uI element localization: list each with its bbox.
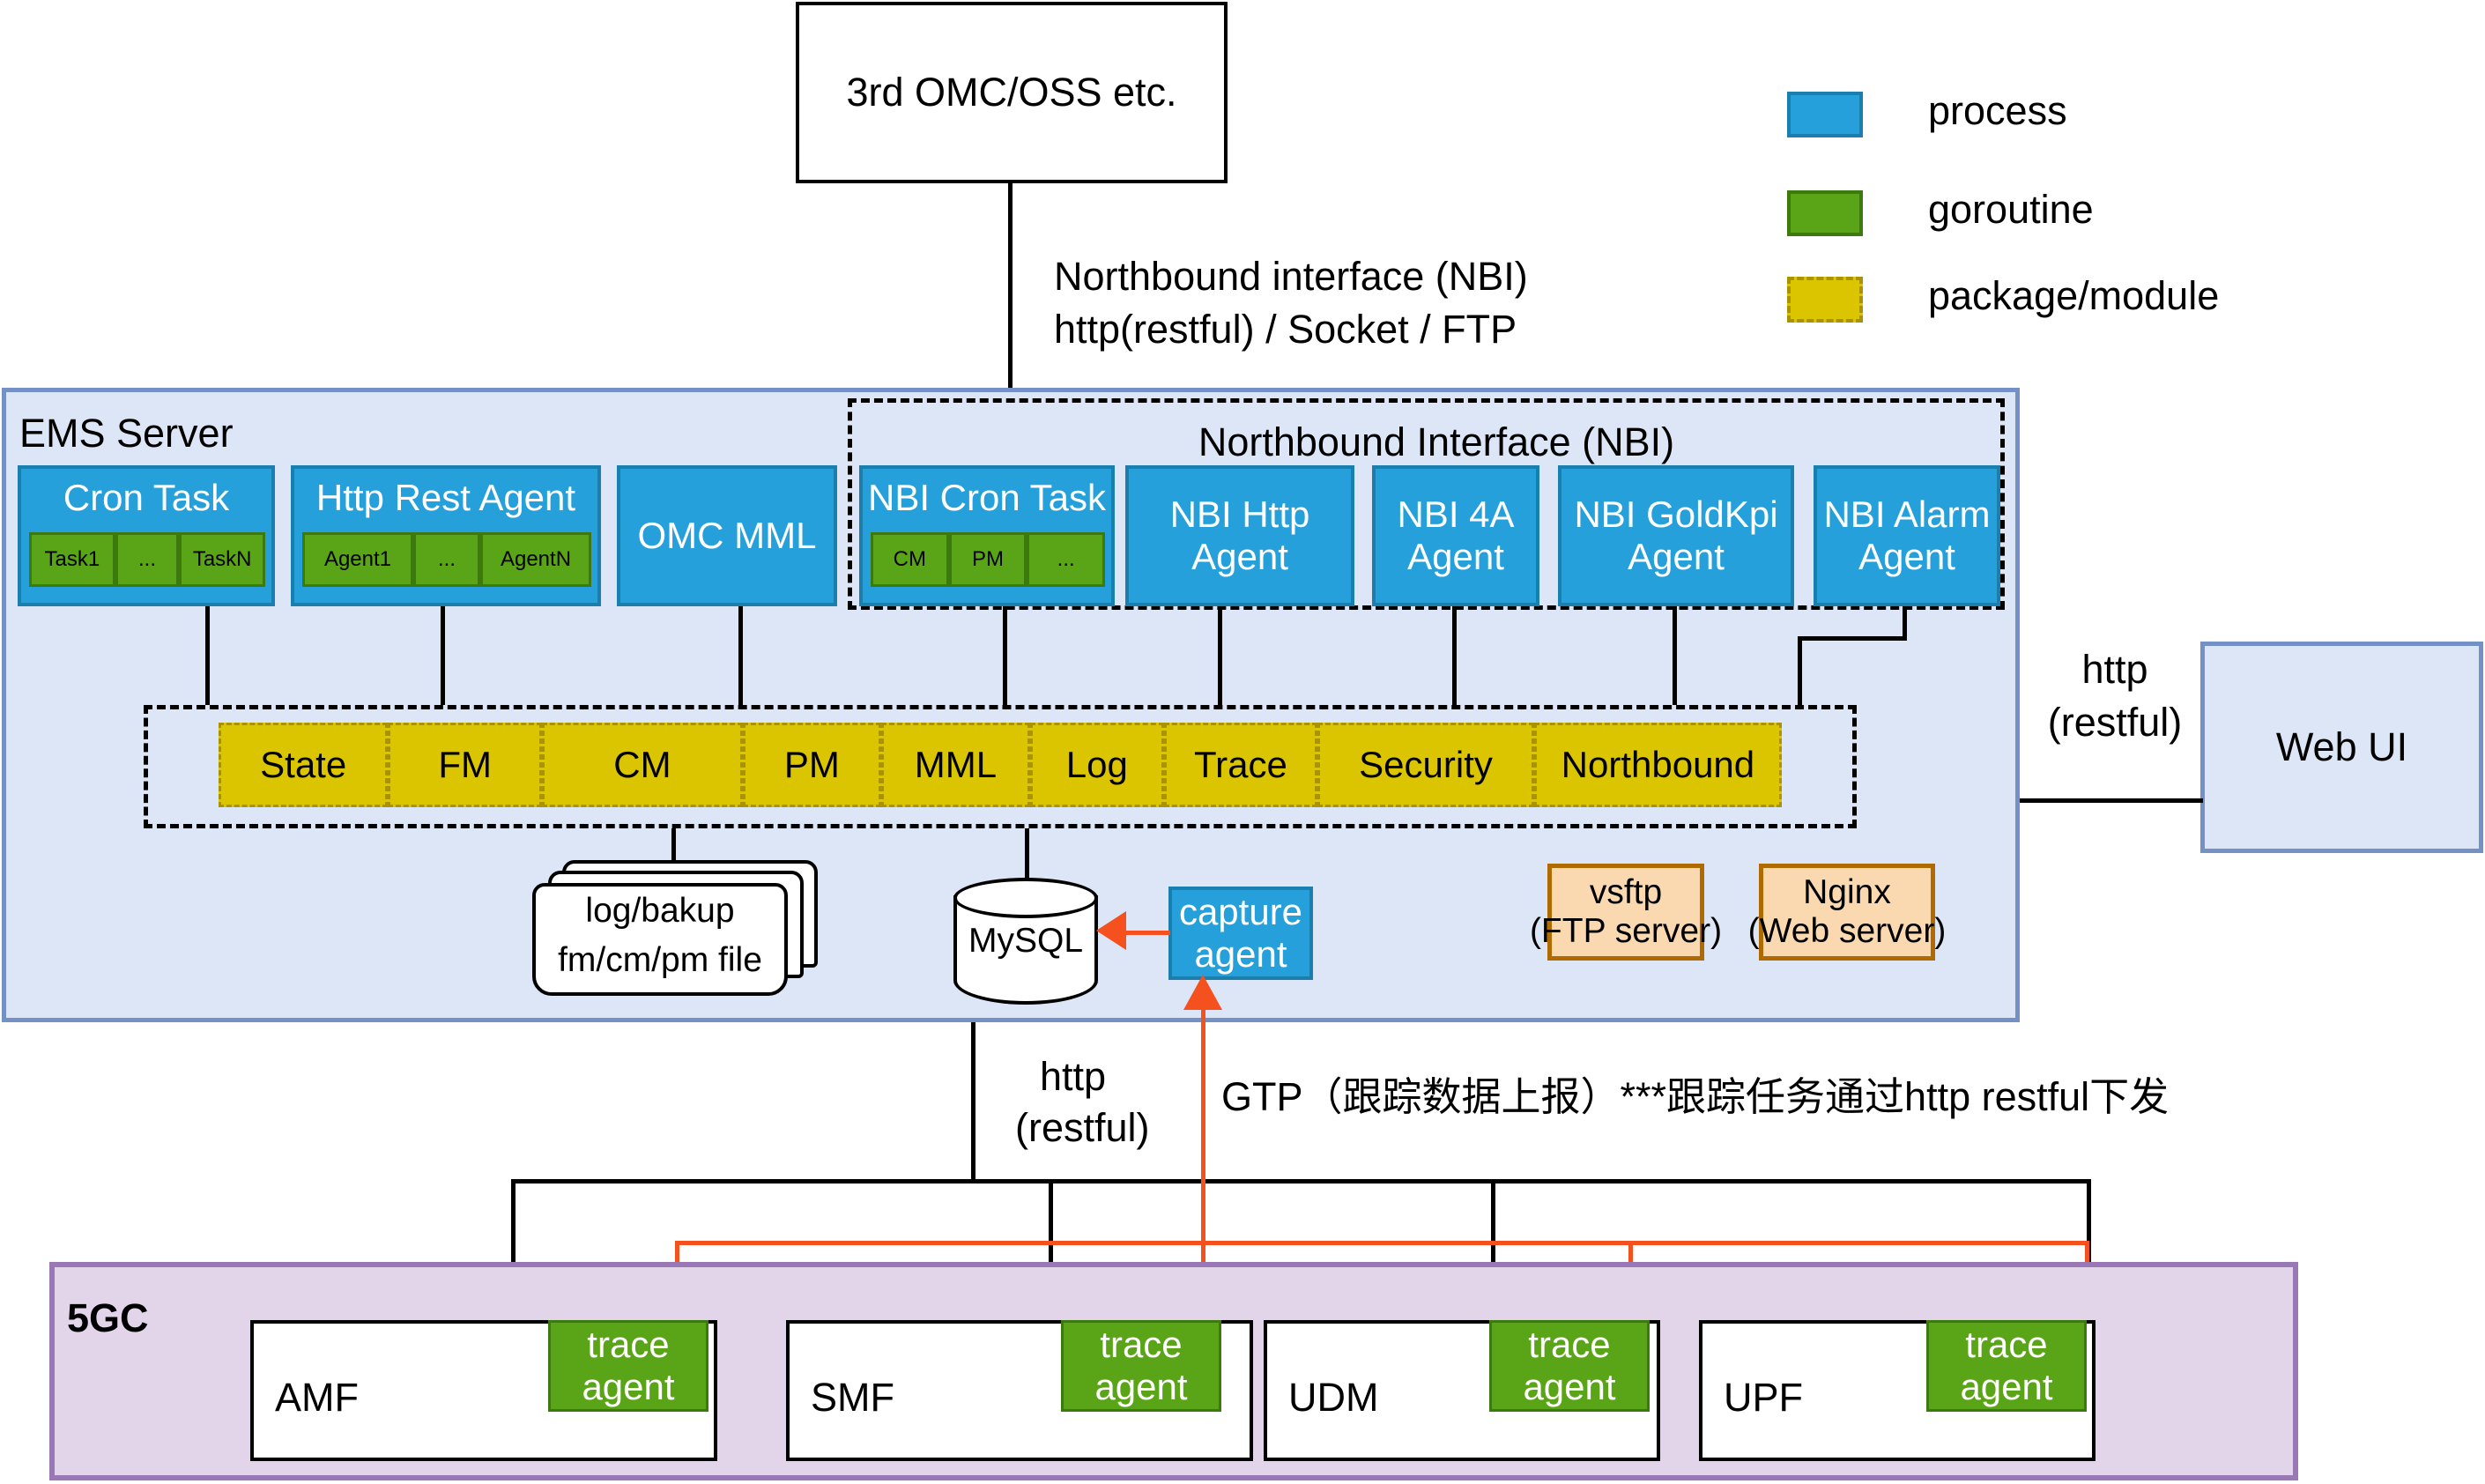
connector-nbi-goldkpi-agent [1673,606,1677,705]
process-nbi-http-agent[interactable]: NBI Http Agent [1125,465,1354,606]
connector-nbi-alarm-agent-vertical [1903,606,1907,640]
third-party-oms-oss-box[interactable]: 3rd OMC/OSS etc. [796,2,1228,183]
process-cron-task[interactable]: Cron Task Task1 ... TaskN [18,465,275,606]
goroutine-cell[interactable]: ... [1027,532,1105,587]
trace-agent-upf[interactable]: trace agent [1926,1320,2087,1412]
nbi-group-title: Northbound Interface (NBI) [969,423,1903,462]
architecture-diagram: process goroutine package/module 3rd OMC… [0,0,2485,1484]
module-log[interactable]: Log [1030,723,1164,807]
process-cron-task-goroutines: Task1 ... TaskN [29,532,265,587]
gtp-arrowhead-to-capture-agent [1183,975,1222,1010]
webui-link-label-line1: http [2027,652,2203,687]
gtp-note-label: GTP（跟踪数据上报）***跟踪任务通过http restful下发 [1221,1065,2169,1122]
ems-server-title: EMS Server [19,411,234,456]
process-http-rest-agent-goroutines: Agent1 ... AgentN [302,532,591,587]
nbi-connector-line [1008,183,1013,388]
web-ui-label: Web UI [2276,724,2407,770]
connector-nbi-alarm-agent-drop [1798,636,1802,705]
connector-nbi-alarm-agent-horizontal [1798,636,1907,641]
process-nbi-goldkpi-agent[interactable]: NBI GoldKpi Agent [1558,465,1794,606]
connector-nbi-4a-agent [1452,606,1457,705]
nf-udm-label: UDM [1288,1375,1378,1421]
module-security[interactable]: Security [1317,723,1534,807]
http-restful-label-line2: (restful) [1015,1105,1150,1151]
process-nbi-cron-task-goroutines: CM PM ... [871,532,1105,587]
legend-swatch-package-module [1787,277,1863,323]
nbi-link-label-line2: http(restful) / Socket / FTP [1054,307,1517,352]
trace-agent-udm[interactable]: trace agent [1489,1320,1650,1412]
goroutine-cell[interactable]: ... [413,532,480,587]
server-vsftp[interactable]: vsftp (FTP server) [1547,864,1704,961]
goroutine-cell[interactable]: ... [115,532,180,587]
webui-link-label-line2: (restful) [2027,705,2203,740]
http-restful-label-line1: http [1040,1054,1106,1100]
gtp-trunk-horizontal [675,1241,2085,1245]
mysql-cylinder-top [953,878,1098,918]
server-nginx[interactable]: Nginx (Web server) [1759,864,1935,961]
connector-nbi-cron-task [1003,606,1007,705]
goroutine-cell[interactable]: Agent1 [302,532,413,587]
goroutine-cell[interactable]: TaskN [179,532,265,587]
goroutine-cell[interactable]: AgentN [480,532,591,587]
third-party-oms-oss-label: 3rd OMC/OSS etc. [846,70,1176,115]
mysql-database[interactable]: MySQL [953,878,1098,1008]
module-state[interactable]: State [219,723,388,807]
capture-to-mysql-arrowhead [1096,911,1126,950]
connector-omc-mml [738,606,743,705]
server-vsftp-line1: vsftp [1590,873,1662,912]
legend: process goroutine package/module [1787,85,2457,331]
mysql-label: MySQL [953,925,1098,957]
goroutine-cell[interactable]: Task1 [29,532,115,587]
legend-label-goroutine: goroutine [1928,187,2094,233]
process-omc-mml[interactable]: OMC MML [617,465,837,606]
http-restful-trunk-horizontal [511,1179,2090,1183]
process-nbi-4a-agent[interactable]: NBI 4A Agent [1372,465,1539,606]
process-cron-task-label: Cron Task [21,469,271,527]
module-cm[interactable]: CM [542,723,743,807]
legend-label-package-module: package/module [1928,273,2219,319]
ems-to-webui-line [2020,798,2203,803]
module-bar: State FM CM PM MML Log Trace Security No… [219,723,1782,807]
process-nbi-cron-task[interactable]: NBI Cron Task CM PM ... [859,465,1115,606]
process-http-rest-agent-label: Http Rest Agent [294,469,597,527]
gtp-trunk-vertical [1201,1005,1205,1243]
log-backup-files[interactable]: log/bakup fm/cm/pm file [529,860,828,997]
nbi-link-label-line1: Northbound interface (NBI) [1054,254,1528,300]
nf-upf-label: UPF [1724,1375,1803,1421]
connector-http-rest-agent [441,606,445,705]
module-fm[interactable]: FM [388,723,542,807]
nf-smf-label: SMF [811,1375,894,1421]
module-northbound[interactable]: Northbound [1534,723,1782,807]
module-trace[interactable]: Trace [1164,723,1318,807]
server-vsftp-line2: (FTP server) [1530,912,1722,951]
server-nginx-line1: Nginx [1803,873,1891,912]
process-nbi-cron-task-label: NBI Cron Task [863,469,1111,527]
legend-swatch-goroutine [1787,190,1863,236]
capture-to-mysql-line [1121,931,1170,935]
fivegc-title: 5GC [67,1295,149,1341]
goroutine-cell[interactable]: CM [871,532,949,587]
connector-module-to-mysql [1025,828,1029,878]
server-nginx-line2: (Web server) [1748,912,1947,951]
http-restful-trunk-vertical [971,1022,975,1181]
legend-label-process: process [1928,88,2067,134]
process-capture-agent[interactable]: capture agent [1168,887,1313,980]
connector-nbi-http-agent [1218,606,1222,705]
trace-agent-amf[interactable]: trace agent [548,1320,708,1412]
process-nbi-alarm-agent[interactable]: NBI Alarm Agent [1814,465,2000,606]
log-backup-label-line1: log/bakup [532,895,788,927]
connector-cron-task [205,606,210,705]
log-backup-label-line2: fm/cm/pm file [532,945,788,976]
module-mml[interactable]: MML [881,723,1030,807]
legend-swatch-process [1787,92,1863,137]
process-http-rest-agent[interactable]: Http Rest Agent Agent1 ... AgentN [291,465,601,606]
nf-amf-label: AMF [275,1375,359,1421]
goroutine-cell[interactable]: PM [949,532,1027,587]
web-ui-box[interactable]: Web UI [2200,642,2483,853]
module-pm[interactable]: PM [743,723,881,807]
trace-agent-smf[interactable]: trace agent [1061,1320,1221,1412]
